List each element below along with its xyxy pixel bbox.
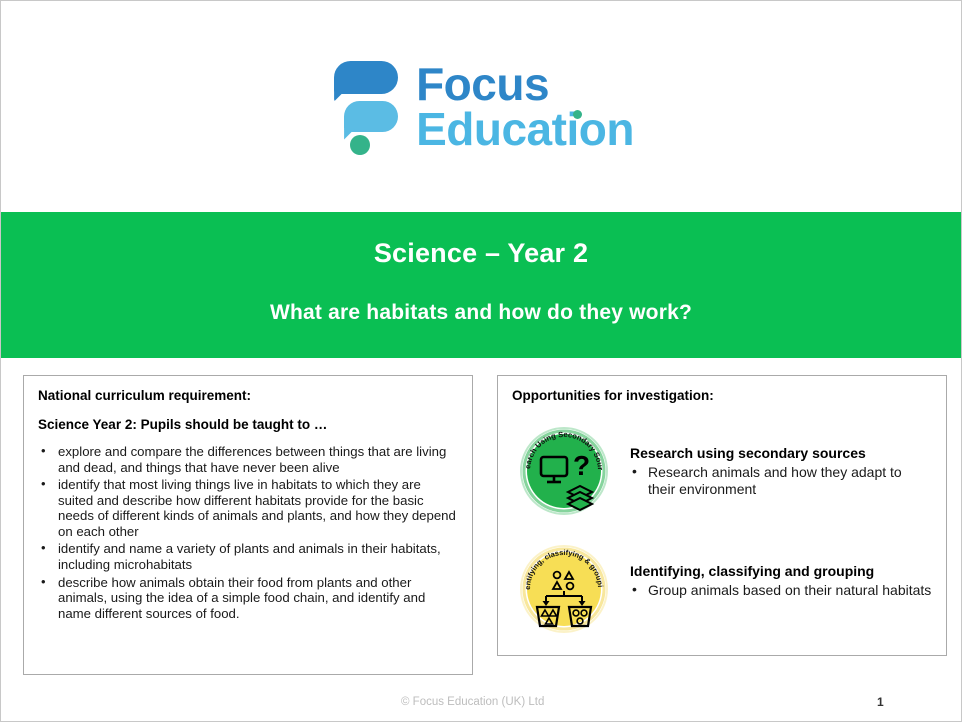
logo-bar-top-shape [334, 61, 398, 94]
nc-panel-heading: National curriculum requirement: [38, 388, 458, 403]
opportunity-row: Research Using Secondary Sources ? [512, 417, 932, 521]
banner-question-subtitle: What are habitats and how do they work? [1, 301, 961, 325]
opportunity-bullet-list: Group animals based on their natural hab… [630, 582, 931, 599]
research-secondary-sources-badge: Research Using Secondary Sources ? [512, 417, 616, 521]
opportunity-bullet-list: Research animals and how they adapt to t… [630, 464, 932, 498]
banner-subject-title: Science – Year 2 [1, 238, 961, 269]
shapes-sorting-bins-icon: Identifying, classifying & grouping [512, 535, 616, 639]
svg-text:?: ? [573, 450, 590, 481]
logo-word-education: Education [416, 107, 634, 151]
list-item: Research animals and how they adapt to t… [630, 464, 932, 498]
opportunities-panel-heading: Opportunities for investigation: [512, 388, 932, 403]
opportunity-text-block: Research using secondary sources Researc… [630, 417, 932, 497]
list-item: identify and name a variety of plants an… [38, 541, 458, 572]
footer-copyright: © Focus Education (UK) Ltd [401, 696, 544, 708]
logo-bar-mid-shape [344, 101, 398, 132]
opportunity-title: Research using secondary sources [630, 445, 932, 462]
focus-education-logo: Focus Education [328, 59, 634, 155]
monitor-question-books-icon: Research Using Secondary Sources ? [512, 417, 616, 521]
footer-page-number: 1 [877, 695, 884, 709]
nc-panel-subheading: Science Year 2: Pupils should be taught … [38, 417, 458, 432]
opportunity-title: Identifying, classifying and grouping [630, 563, 931, 580]
logo-i-dot-icon [573, 110, 582, 119]
logo-green-dot-icon [350, 135, 370, 155]
slide-page: Focus Education Science – Year 2 What ar… [0, 0, 962, 722]
list-item: identify that most living things live in… [38, 477, 458, 539]
focus-education-f-mark-icon [328, 59, 400, 155]
list-item: describe how animals obtain their food f… [38, 575, 458, 622]
page-header: Focus Education [1, 1, 961, 212]
logo-wordmark: Focus Education [416, 62, 634, 150]
logo-word-education-text: Education [416, 103, 634, 155]
list-item: explore and compare the differences betw… [38, 444, 458, 475]
national-curriculum-panel: National curriculum requirement: Science… [23, 375, 473, 675]
opportunity-row: Identifying, classifying & grouping [512, 535, 932, 639]
page-footer: © Focus Education (UK) Ltd 1 [1, 691, 961, 713]
opportunities-panel: Opportunities for investigation: [497, 375, 947, 656]
content-area: National curriculum requirement: Science… [1, 358, 961, 675]
nc-bullet-list: explore and compare the differences betw… [38, 444, 458, 621]
list-item: Group animals based on their natural hab… [630, 582, 931, 599]
opportunity-text-block: Identifying, classifying and grouping Gr… [630, 535, 931, 599]
identifying-classifying-grouping-badge: Identifying, classifying & grouping [512, 535, 616, 639]
title-banner: Science – Year 2 What are habitats and h… [1, 212, 961, 358]
